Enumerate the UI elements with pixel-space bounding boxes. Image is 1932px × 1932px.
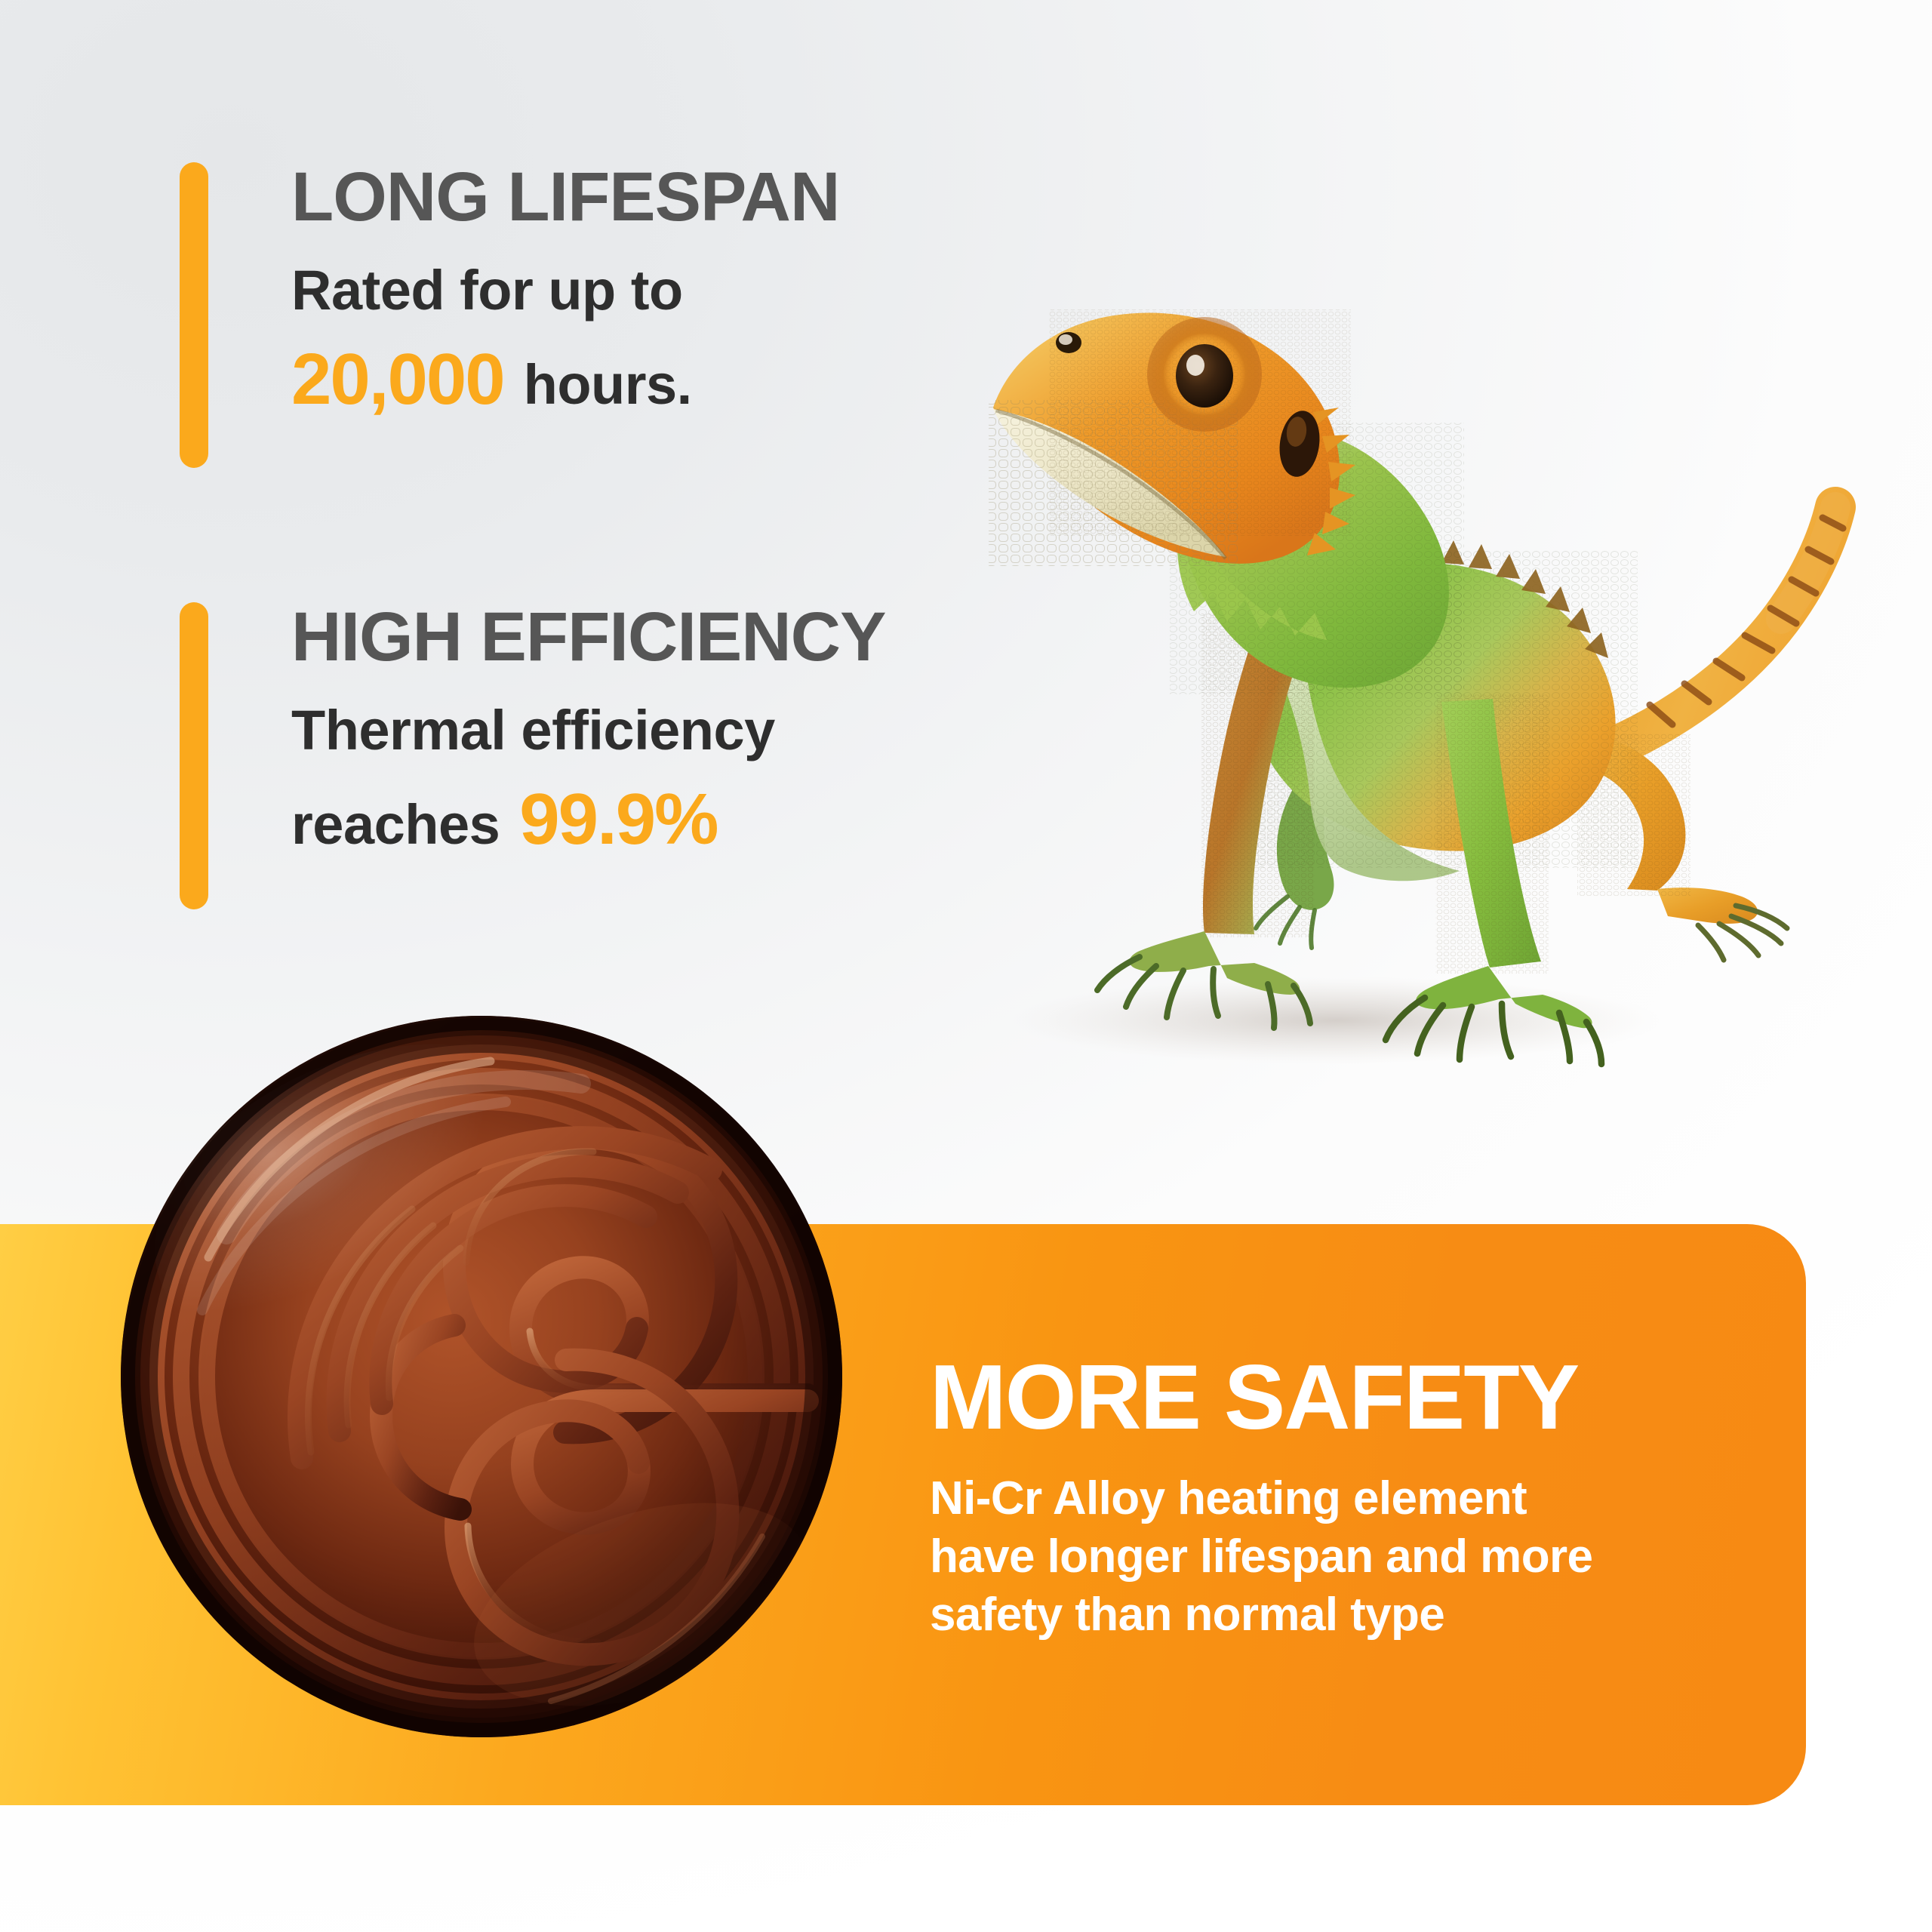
highlight-prefix: reaches bbox=[291, 793, 500, 856]
highlight-value: 20,000 bbox=[291, 339, 504, 420]
bearded-dragon-lizard-photo bbox=[913, 226, 1902, 1094]
highlight-value: 99.9% bbox=[519, 779, 717, 860]
disc-graphic bbox=[113, 1008, 850, 1745]
feature-long-lifespan: LONG LIFESPAN Rated for up to 20,000hour… bbox=[180, 162, 839, 468]
feature-line-1: Rated for up to bbox=[291, 257, 839, 323]
infographic-canvas: LONG LIFESPAN Rated for up to 20,000hour… bbox=[0, 0, 1932, 1932]
feature-line-2: 20,000hours. bbox=[291, 337, 839, 422]
feature-heading: HIGH EFFICIENCY bbox=[291, 602, 885, 672]
feature-line-1: Thermal efficiency bbox=[291, 697, 885, 763]
panel-body: Ni-Cr Alloy heating element have longer … bbox=[930, 1470, 1783, 1644]
feature-heading: LONG LIFESPAN bbox=[291, 162, 839, 232]
highlight-suffix: hours. bbox=[524, 353, 692, 416]
feature-line-2: reaches99.9% bbox=[291, 777, 885, 862]
panel-body-line-1: Ni-Cr Alloy heating element bbox=[930, 1470, 1783, 1528]
panel-body-line-3: safety than normal type bbox=[930, 1586, 1783, 1644]
lizard-eye bbox=[1176, 344, 1233, 408]
accent-bar-icon bbox=[180, 602, 208, 909]
more-safety-text-group: MORE SAFETY Ni-Cr Alloy heating element … bbox=[930, 1351, 1783, 1644]
lizard-head bbox=[989, 309, 1355, 566]
accent-bar-icon bbox=[180, 162, 208, 468]
panel-body-line-2: have longer lifespan and more bbox=[930, 1528, 1783, 1586]
feature-high-efficiency: HIGH EFFICIENCY Thermal efficiency reach… bbox=[180, 602, 885, 909]
panel-heading: MORE SAFETY bbox=[930, 1351, 1783, 1443]
ceramic-heat-emitter-disc bbox=[113, 1008, 850, 1745]
